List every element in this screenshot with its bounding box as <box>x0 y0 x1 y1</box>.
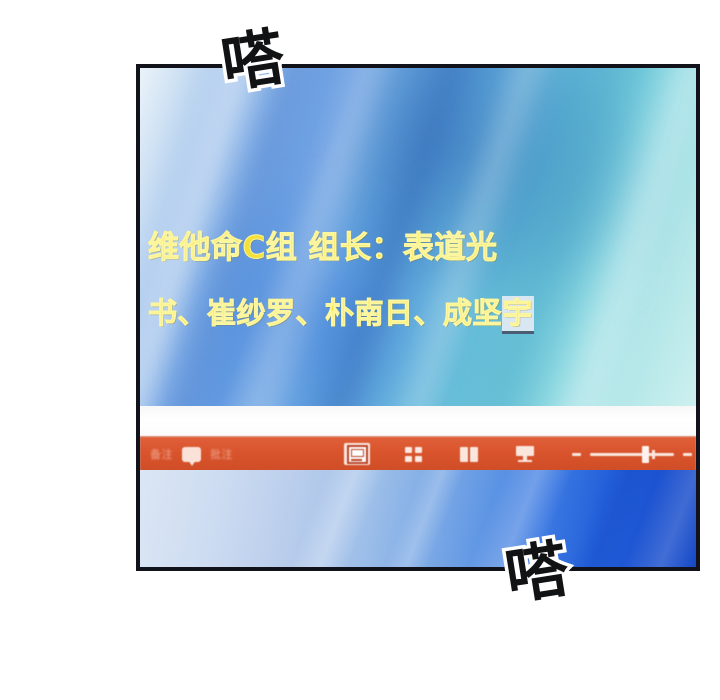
slide-sorter-icon <box>405 447 422 462</box>
comic-panel: 维他命C组 组长：表道光 书、崔纱罗、朴南日、成坚宇 备注 批注 <box>136 64 700 571</box>
open-book-icon <box>460 447 478 462</box>
sfx-glyph: 嗒 <box>502 538 573 609</box>
zoom-slider-tick <box>652 450 655 459</box>
sfx-glyph: 嗒 <box>218 26 289 97</box>
projector-screen-icon <box>516 446 534 462</box>
view-switcher <box>344 443 538 465</box>
sound-effect-text-bottom: 嗒 <box>506 542 568 604</box>
reading-view-button[interactable] <box>456 443 482 465</box>
slide-text-line-2[interactable]: 书、崔纱罗、朴南日、成坚宇 <box>148 294 690 332</box>
zoom-slider-handle[interactable] <box>642 446 649 463</box>
desktop-streak <box>598 470 696 567</box>
slide-sorter-view-button[interactable] <box>400 443 426 465</box>
sound-effect-text-top: 嗒 <box>222 30 284 92</box>
status-bar-left-group: 备注 批注 <box>140 446 302 462</box>
slide-canvas[interactable]: 维他命C组 组长：表道光 书、崔纱罗、朴南日、成坚宇 <box>140 68 696 406</box>
slide-text-line-1[interactable]: 维他命C组 组长：表道光 <box>148 228 690 268</box>
status-bar: 备注 批注 <box>140 436 696 472</box>
notes-button-label[interactable]: 备注 <box>150 446 173 462</box>
slide-text-line-2-text: 书、崔纱罗、朴南日、成坚 <box>148 296 502 330</box>
comments-button-label[interactable]: 批注 <box>210 446 233 462</box>
desktop-streak <box>263 470 404 567</box>
screenshot-content: 维他命C组 组长：表道光 书、崔纱罗、朴南日、成坚宇 备注 批注 <box>140 68 696 567</box>
zoom-in-icon[interactable] <box>683 453 692 456</box>
zoom-slider[interactable] <box>572 453 696 456</box>
zoom-out-icon[interactable] <box>572 453 581 456</box>
normal-view-button[interactable] <box>344 443 370 465</box>
desktop-streak <box>357 470 485 567</box>
slide-show-button[interactable] <box>512 443 538 465</box>
ime-composition-text[interactable]: 宇 <box>502 296 534 334</box>
normal-view-icon <box>347 445 368 464</box>
slide-text-block[interactable]: 维他命C组 组长：表道光 书、崔纱罗、朴南日、成坚宇 <box>148 228 690 332</box>
speech-bubble-icon[interactable] <box>182 447 201 462</box>
slide-bottom-gap <box>140 406 696 436</box>
zoom-slider-track[interactable] <box>590 453 674 456</box>
desktop-wallpaper <box>140 470 696 567</box>
